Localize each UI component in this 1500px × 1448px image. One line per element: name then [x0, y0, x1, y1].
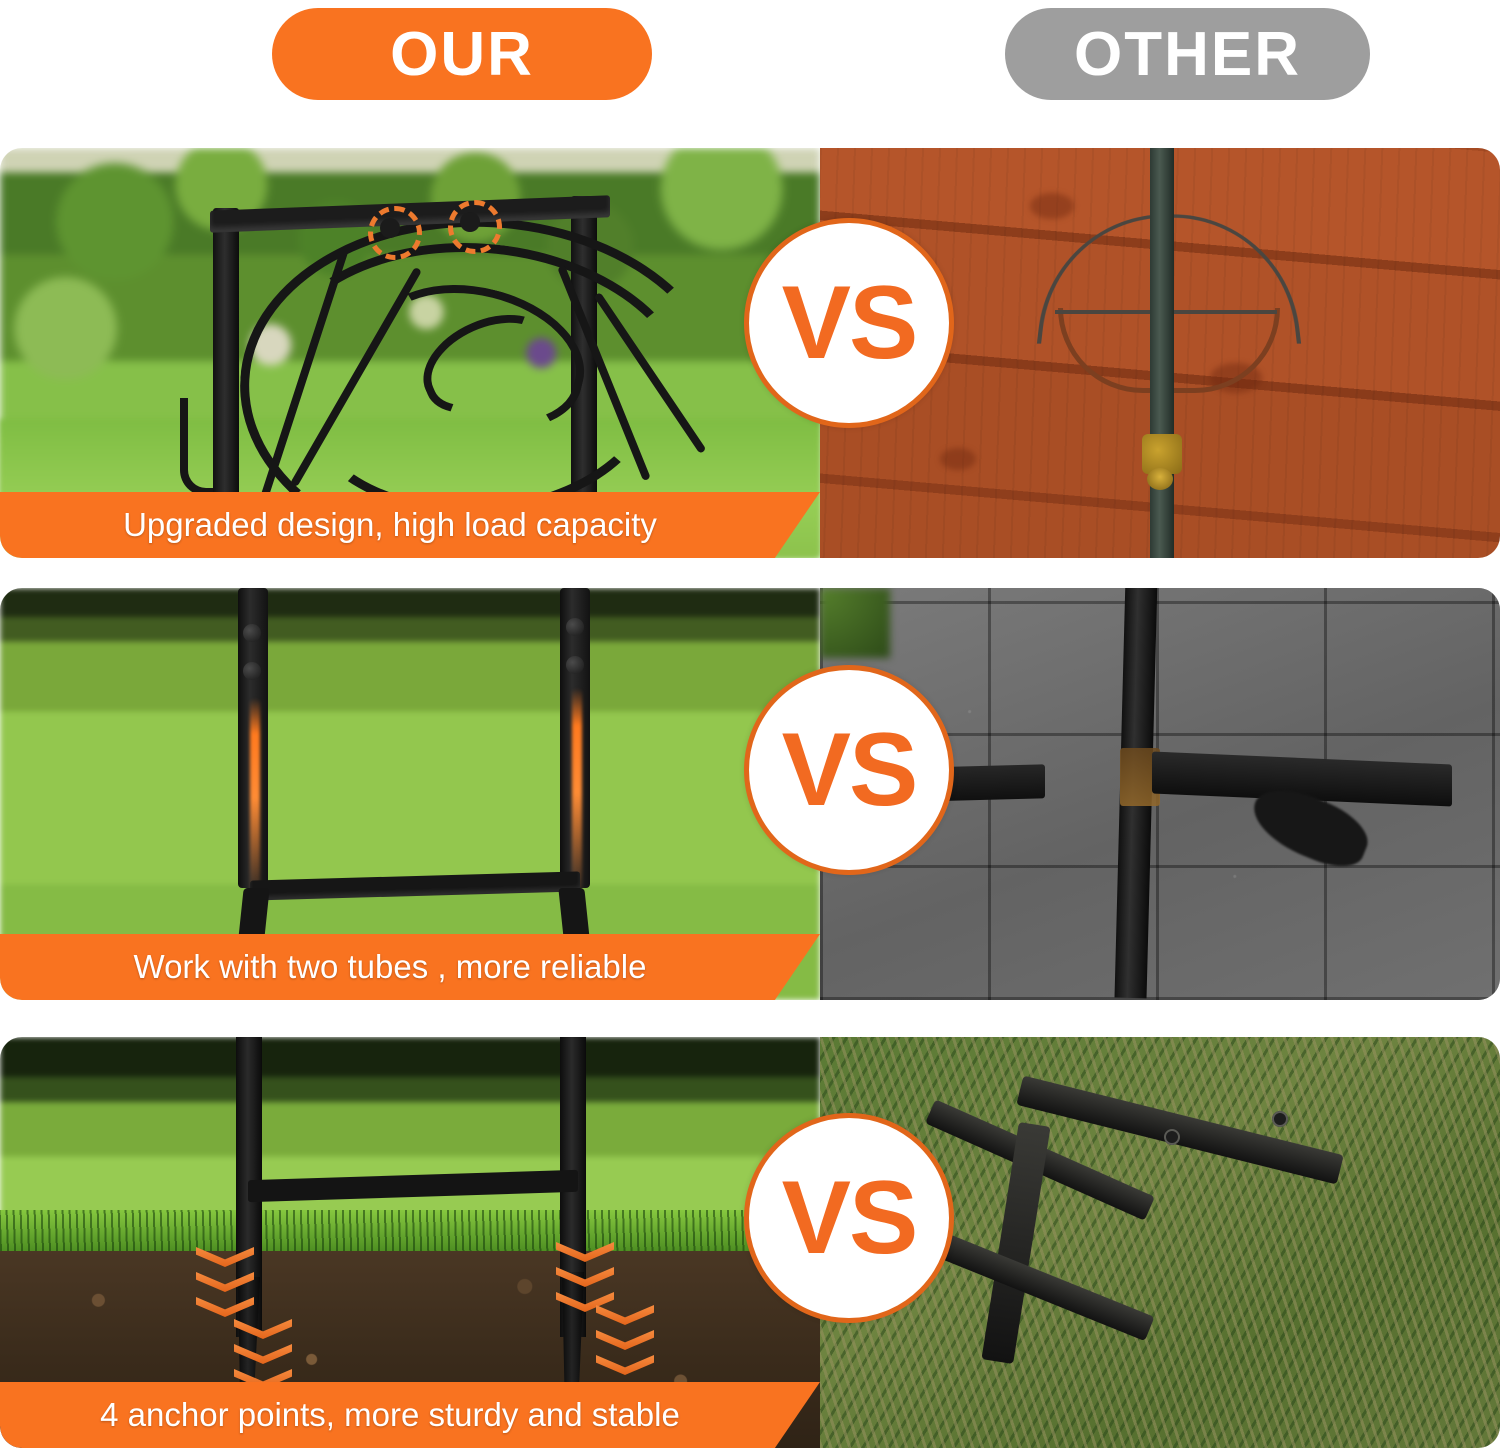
vs-badge-2-label: VS — [782, 711, 917, 830]
our-caption-2-text: Work with two tubes , more reliable — [134, 948, 647, 986]
water-pipe — [1150, 148, 1174, 558]
spigot-outlet — [1147, 468, 1173, 490]
our-caption-3: 4 anchor points, more sturdy and stable — [0, 1382, 820, 1448]
down-arrow-icon-4 — [596, 1305, 654, 1380]
our-panel-2: Work with two tubes , more reliable — [0, 588, 820, 1000]
grass-surface-strip — [0, 1210, 820, 1251]
vs-badge-3: VS — [744, 1113, 954, 1323]
wood-knot-3 — [940, 448, 976, 470]
our-caption-1-text: Upgraded design, high load capacity — [123, 506, 657, 544]
wood-knot-1 — [1030, 193, 1074, 219]
our-caption-1: Upgraded design, high load capacity — [0, 492, 820, 558]
tube-bolt-2 — [243, 662, 261, 680]
stake-bolt-hole-1 — [1164, 1129, 1180, 1145]
our-badge-label: OUR — [390, 19, 534, 90]
tube-bolt-3 — [566, 618, 584, 636]
highlight-circle-icon-1 — [368, 206, 422, 260]
other-badge-label: OTHER — [1074, 19, 1301, 90]
other-badge: OTHER — [1005, 8, 1370, 100]
tube-glow-right — [572, 688, 582, 898]
highlight-circle-icon-2 — [448, 200, 502, 254]
our-caption-2: Work with two tubes , more reliable — [0, 934, 820, 1000]
our-caption-3-text: 4 anchor points, more sturdy and stable — [100, 1396, 680, 1434]
header-badges: OUR OTHER — [0, 0, 1500, 110]
vs-badge-3-label: VS — [782, 1159, 917, 1278]
our-badge: OUR — [272, 8, 652, 100]
our-panel-3: 4 anchor points, more sturdy and stable — [0, 1037, 820, 1448]
our-panel-1: Upgraded design, high load capacity — [0, 148, 820, 558]
vs-badge-1: VS — [744, 218, 954, 428]
tube-glow-left — [250, 698, 260, 898]
grass-corner-patch — [820, 588, 890, 658]
vs-badge-1-label: VS — [782, 264, 917, 383]
vs-badge-2: VS — [744, 665, 954, 875]
down-arrow-icon-1 — [196, 1247, 254, 1322]
tube-bolt-4 — [566, 656, 584, 674]
tube-bolt-1 — [243, 624, 261, 642]
stake-bolt-hole-2 — [1272, 1111, 1288, 1127]
